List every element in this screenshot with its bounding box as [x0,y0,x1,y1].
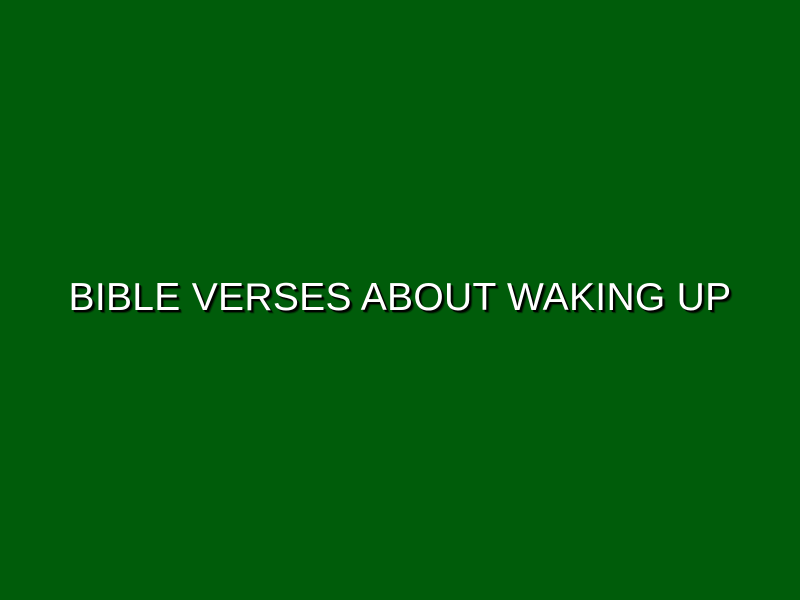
title-card: BIBLE VERSES ABOUT WAKING UP [0,0,800,600]
page-title: BIBLE VERSES ABOUT WAKING UP [0,277,800,320]
